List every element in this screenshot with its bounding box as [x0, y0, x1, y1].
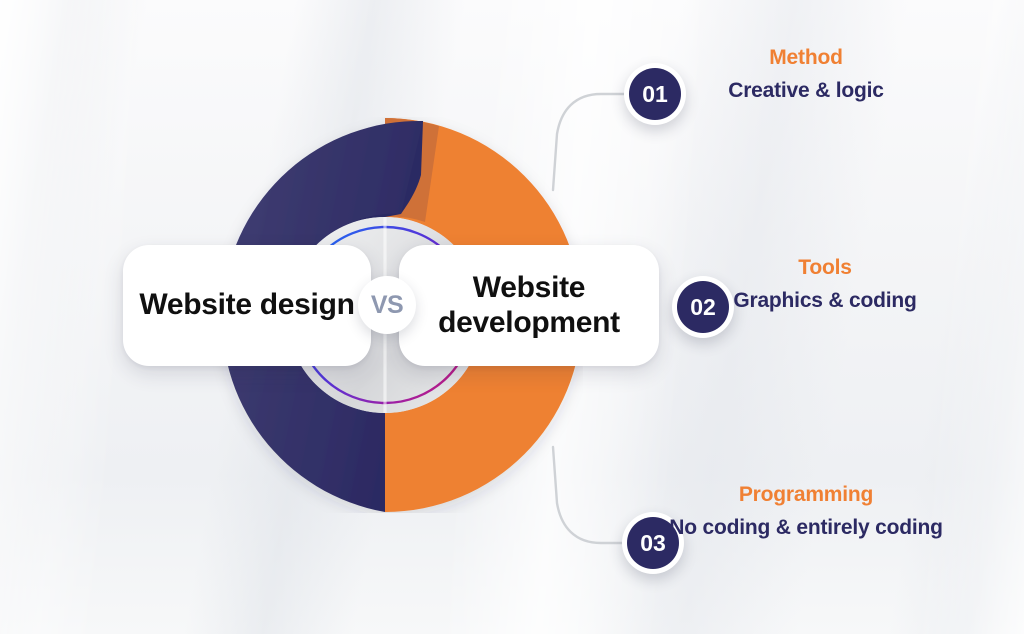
infographic-canvas: Website design Website development VS 01… — [0, 0, 1024, 634]
comparison-card-left-label: Website design — [139, 288, 354, 322]
step-description-02: Graphics & coding — [718, 287, 932, 315]
versus-badge: VS — [358, 276, 416, 334]
step-title-01: Method — [669, 47, 943, 68]
versus-label: VS — [371, 291, 403, 320]
step-title-03: Programming — [666, 484, 946, 505]
step-text-02: Tools Graphics & coding — [718, 257, 932, 315]
comparison-card-right-label: Website development — [399, 271, 659, 339]
step-text-01: Method Creative & logic — [669, 47, 943, 105]
step-description-03: No coding & entirely coding — [666, 514, 946, 542]
comparison-card-right[interactable]: Website development — [399, 245, 659, 366]
step-title-02: Tools — [718, 257, 932, 278]
step-text-03: Programming No coding & entirely coding — [666, 484, 946, 542]
step-description-01: Creative & logic — [669, 77, 943, 105]
comparison-card-left[interactable]: Website design — [123, 245, 371, 366]
